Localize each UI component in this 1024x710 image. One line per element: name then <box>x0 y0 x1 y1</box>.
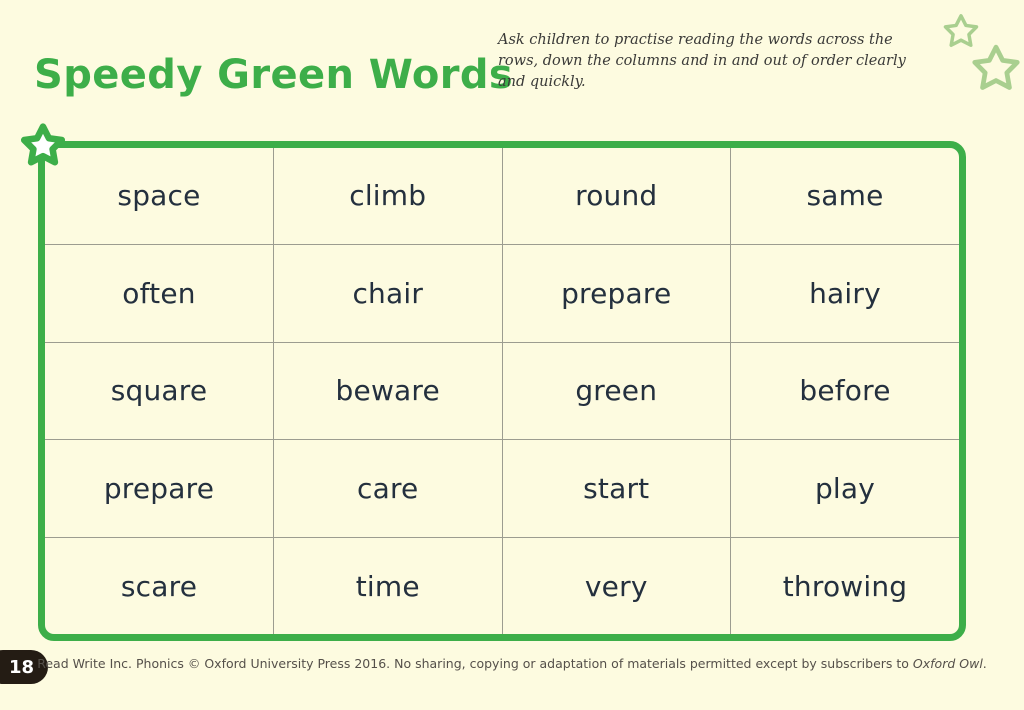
word-cell[interactable]: very <box>502 538 731 634</box>
table-row: space climb round same <box>45 148 959 244</box>
word-grid-panel: space climb round same often chair prepa… <box>38 141 966 641</box>
word-cell[interactable]: start <box>502 440 731 538</box>
table-row: square beware green before <box>45 342 959 440</box>
word-grid-container: space climb round same often chair prepa… <box>38 141 966 641</box>
page-title: Speedy Green Words <box>34 52 513 98</box>
page-header: Speedy Green Words Ask children to pract… <box>0 0 1024 128</box>
copyright-end: . <box>983 656 987 671</box>
copyright-brand: Oxford Owl <box>913 656 983 671</box>
word-cell[interactable]: same <box>731 148 960 244</box>
table-row: often chair prepare hairy <box>45 244 959 342</box>
corner-star-decoration <box>928 0 1024 104</box>
word-cell[interactable]: play <box>731 440 960 538</box>
word-cell[interactable]: time <box>274 538 503 634</box>
star-icon <box>970 42 1022 98</box>
copyright-text: Read Write Inc. Phonics © Oxford Univers… <box>37 656 913 671</box>
word-cell[interactable]: hairy <box>731 244 960 342</box>
word-cell[interactable]: scare <box>45 538 274 634</box>
copyright-notice: Read Write Inc. Phonics © Oxford Univers… <box>0 656 1024 671</box>
instructions-text: Ask children to practise reading the wor… <box>498 30 918 93</box>
word-cell[interactable]: often <box>45 244 274 342</box>
table-row: scare time very throwing <box>45 538 959 634</box>
word-cell[interactable]: prepare <box>45 440 274 538</box>
word-cell[interactable]: chair <box>274 244 503 342</box>
word-cell[interactable]: green <box>502 342 731 440</box>
star-icon <box>942 12 980 54</box>
word-cell[interactable]: round <box>502 148 731 244</box>
word-cell[interactable]: before <box>731 342 960 440</box>
word-cell[interactable]: prepare <box>502 244 731 342</box>
word-cell[interactable]: beware <box>274 342 503 440</box>
table-row: prepare care start play <box>45 440 959 538</box>
page-footer: 18 Read Write Inc. Phonics © Oxford Univ… <box>0 642 1024 710</box>
word-grid-table: space climb round same often chair prepa… <box>45 148 959 634</box>
word-cell[interactable]: climb <box>274 148 503 244</box>
word-cell[interactable]: space <box>45 148 274 244</box>
word-cell[interactable]: square <box>45 342 274 440</box>
word-cell[interactable]: care <box>274 440 503 538</box>
word-cell[interactable]: throwing <box>731 538 960 634</box>
